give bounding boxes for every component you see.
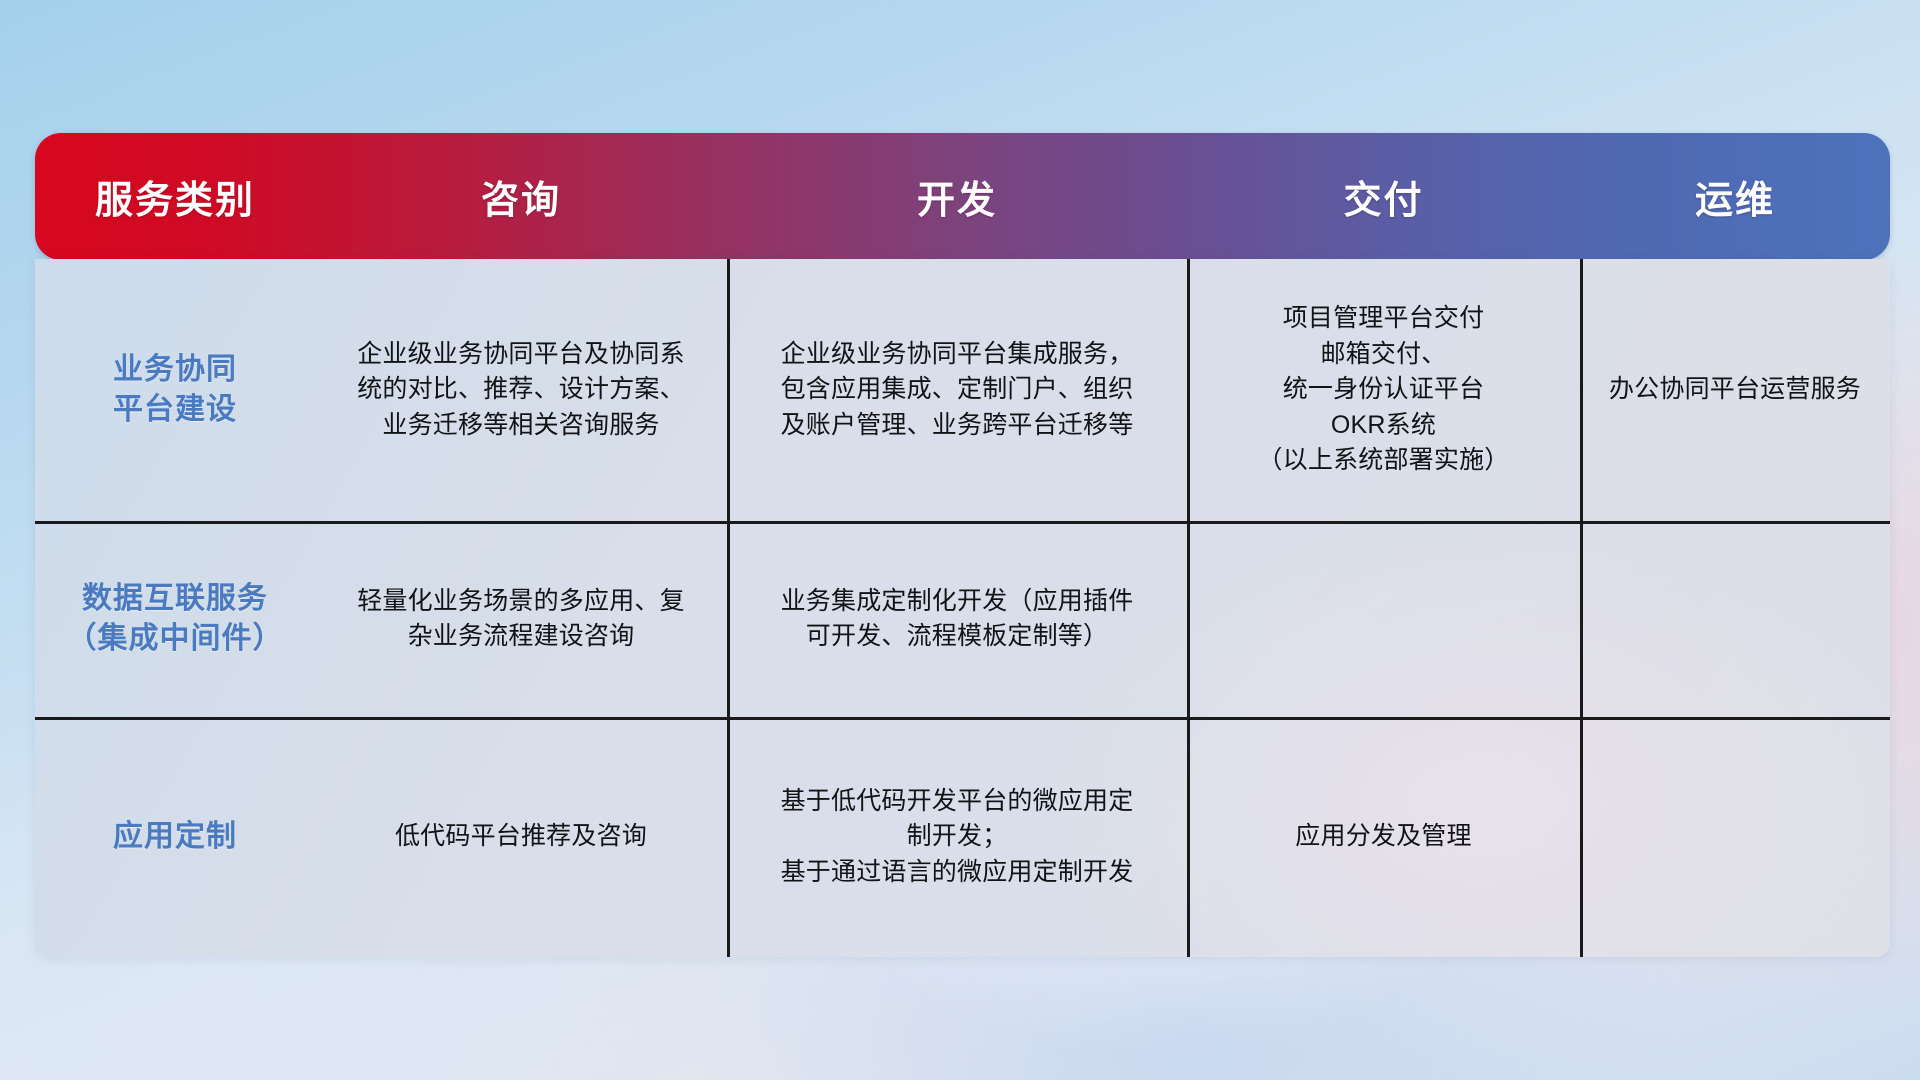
row-1-development-cell: 企业级业务协同平台集成服务， 包含应用集成、定制门户、组织 及账户管理、业务跨平…: [727, 259, 1187, 521]
row-2-category-cell: 数据互联服务 （集成中间件）: [35, 521, 315, 717]
row-2-consulting-cell: 轻量化业务场景的多应用、复 杂业务流程建设咨询: [315, 521, 727, 717]
row-3-consulting-text: 低代码平台推荐及咨询: [395, 819, 647, 855]
header-label-delivery: 交付: [1343, 169, 1423, 224]
row-1-consulting-cell: 企业级业务协同平台及协同系 统的对比、推荐、设计方案、 业务迁移等相关咨询服务: [315, 259, 727, 521]
table-body: 业务协同 平台建设 企业级业务协同平台及协同系 统的对比、推荐、设计方案、 业务…: [35, 259, 1890, 957]
header-cell-operations: 运维: [1580, 133, 1890, 260]
header-cell-delivery: 交付: [1187, 133, 1580, 260]
row-3-consulting-cell: 低代码平台推荐及咨询: [315, 717, 727, 957]
row-1-operations-text: 办公协同平台运营服务: [1609, 372, 1861, 408]
table-row: 数据互联服务 （集成中间件） 轻量化业务场景的多应用、复 杂业务流程建设咨询 业…: [35, 521, 1890, 717]
row-2-delivery-cell: [1187, 521, 1580, 717]
service-category-table: 服务类别 咨询 开发 交付 运维 业务协同 平台建设 企业级业务协同平台及协同系…: [35, 133, 1890, 958]
row-3-development-text: 基于低代码开发平台的微应用定 制开发； 基于通过语言的微应用定制开发: [781, 784, 1134, 891]
row-2-development-text: 业务集成定制化开发（应用插件 可开发、流程模板定制等）: [781, 584, 1134, 655]
row-1-consulting-text: 企业级业务协同平台及协同系 统的对比、推荐、设计方案、 业务迁移等相关咨询服务: [357, 337, 685, 444]
header-label-consulting: 咨询: [481, 169, 561, 224]
row-1-delivery-cell: 项目管理平台交付 邮箱交付、 统一身份认证平台 OKR系统 （以上系统部署实施）: [1187, 259, 1580, 521]
row-3-delivery-cell: 应用分发及管理: [1187, 717, 1580, 957]
header-cell-category: 服务类别: [35, 133, 315, 260]
header-cell-consulting: 咨询: [315, 133, 727, 260]
row-3-category-label: 应用定制: [113, 817, 237, 858]
row-3-delivery-text: 应用分发及管理: [1295, 819, 1471, 855]
row-2-operations-cell: [1580, 521, 1890, 717]
table-row: 应用定制 低代码平台推荐及咨询 基于低代码开发平台的微应用定 制开发； 基于通过…: [35, 717, 1890, 957]
row-1-operations-cell: 办公协同平台运营服务: [1580, 259, 1890, 521]
row-3-operations-cell: [1580, 717, 1890, 957]
header-label-category: 服务类别: [95, 169, 255, 224]
header-cell-development: 开发: [727, 133, 1187, 260]
row-2-category-label: 数据互联服务 （集成中间件）: [67, 579, 284, 660]
row-2-development-cell: 业务集成定制化开发（应用插件 可开发、流程模板定制等）: [727, 521, 1187, 717]
row-3-category-cell: 应用定制: [35, 717, 315, 957]
table-header-band: 服务类别 咨询 开发 交付 运维: [35, 133, 1890, 260]
header-label-development: 开发: [917, 169, 997, 224]
table-row: 业务协同 平台建设 企业级业务协同平台及协同系 统的对比、推荐、设计方案、 业务…: [35, 259, 1890, 521]
row-3-development-cell: 基于低代码开发平台的微应用定 制开发； 基于通过语言的微应用定制开发: [727, 717, 1187, 957]
row-1-delivery-text: 项目管理平台交付 邮箱交付、 统一身份认证平台 OKR系统 （以上系统部署实施）: [1257, 301, 1509, 479]
row-1-development-text: 企业级业务协同平台集成服务， 包含应用集成、定制门户、组织 及账户管理、业务跨平…: [781, 337, 1134, 444]
header-label-operations: 运维: [1695, 169, 1775, 224]
row-1-category-label: 业务协同 平台建设: [113, 350, 237, 431]
row-2-consulting-text: 轻量化业务场景的多应用、复 杂业务流程建设咨询: [357, 584, 685, 655]
row-1-category-cell: 业务协同 平台建设: [35, 259, 315, 521]
